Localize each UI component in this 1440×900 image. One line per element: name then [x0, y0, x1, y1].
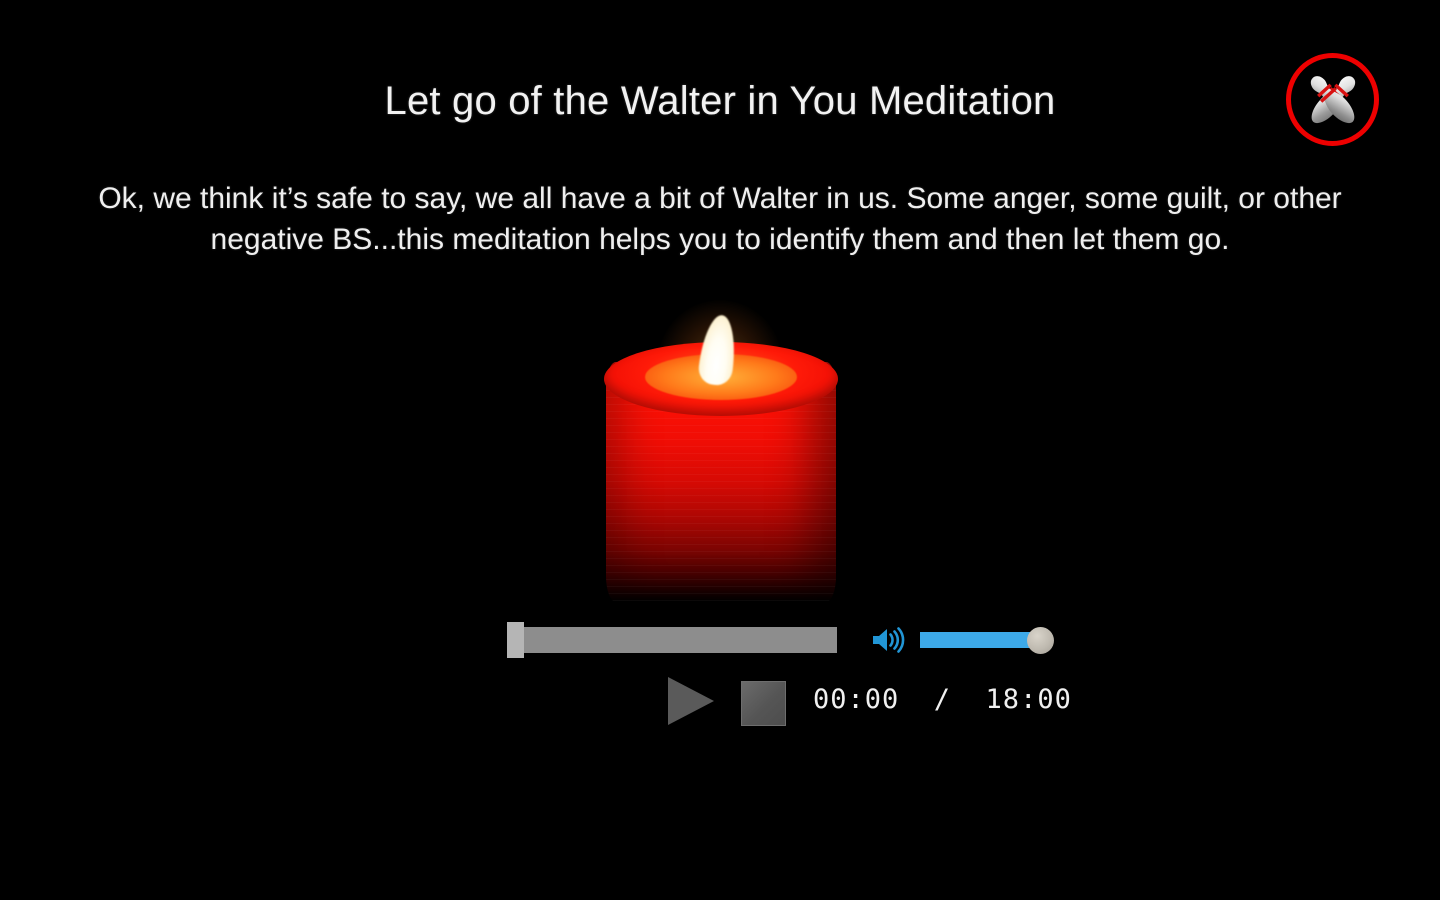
audio-player: 00:00 / 18:00 [0, 0, 1440, 900]
time-display: 00:00 / 18:00 [813, 684, 1072, 715]
play-button[interactable] [668, 677, 714, 725]
volume-slider-fill [920, 632, 1038, 648]
speaker-waves-icon[interactable] [871, 626, 911, 654]
seek-slider[interactable] [507, 627, 837, 653]
seek-row [507, 622, 1055, 658]
volume-slider[interactable] [920, 632, 1055, 648]
volume-slider-knob[interactable] [1027, 627, 1054, 654]
seek-slider-handle[interactable] [507, 622, 524, 658]
stop-button[interactable] [741, 681, 786, 726]
speaker-waves-glyph [871, 626, 911, 654]
